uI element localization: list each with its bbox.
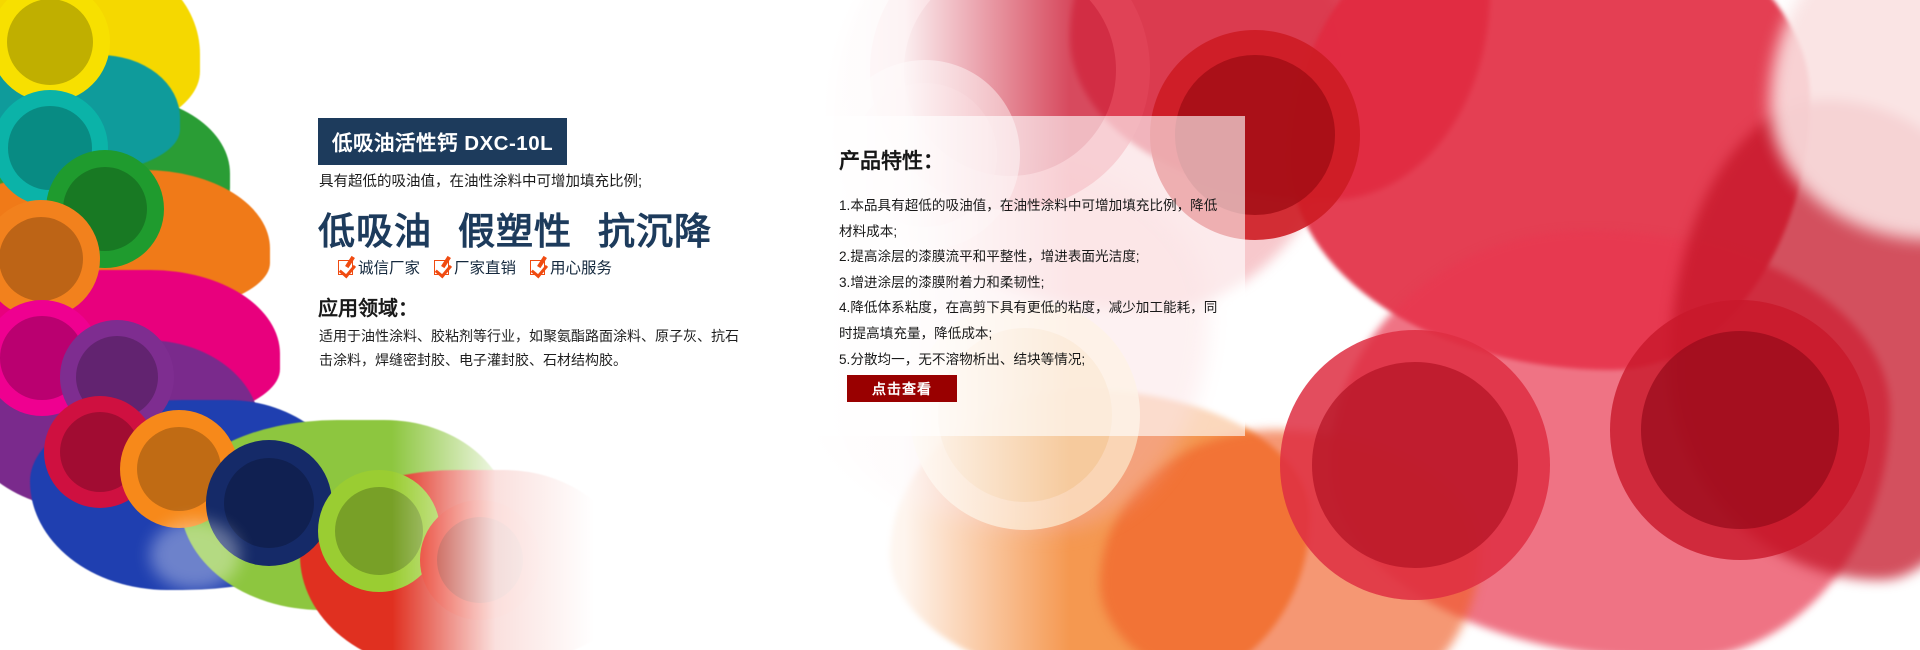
trust-badge-1: 诚信厂家 bbox=[338, 256, 420, 278]
features-list: 1.本品具有超低的吸油值，在油性涂料中可增加填充比例，降低材料成本; 2.提高涂… bbox=[839, 193, 1229, 372]
features-panel-title: 产品特性： bbox=[839, 145, 944, 175]
checkbox-checked-icon bbox=[434, 260, 449, 275]
product-banner: 低吸油活性钙 DXC-10L 具有超低的吸油值，在油性涂料中可增加填充比例; 低… bbox=[0, 0, 1920, 650]
checkbox-checked-icon bbox=[530, 260, 545, 275]
paint-dish-crimson-lower-inner bbox=[1312, 362, 1517, 567]
paint-dish-deep-right-inner bbox=[1641, 331, 1839, 529]
headline-part-2: 假塑性 bbox=[458, 209, 572, 253]
trust-badge-2-label: 厂家直销 bbox=[454, 256, 516, 278]
feature-item: 3.增进涂层的漆膜附着力和柔韧性; bbox=[839, 270, 1229, 296]
trust-badge-3: 用心服务 bbox=[530, 256, 612, 278]
paint-dish-deep-right bbox=[1610, 300, 1870, 560]
left-content: 低吸油活性钙 DXC-10L 具有超低的吸油值，在油性涂料中可增加填充比例; 低… bbox=[318, 0, 788, 650]
headline-part-3: 抗沉降 bbox=[598, 209, 712, 253]
application-description: 适用于油性涂料、胶粘剂等行业，如聚氨酯路面涂料、原子灰、抗石击涂料，焊缝密封胶、… bbox=[319, 324, 739, 372]
paint-blob-white-highlight bbox=[150, 520, 240, 590]
headline: 低吸油假塑性抗沉降 bbox=[318, 201, 712, 255]
feature-item: 4.降低体系粘度，在高剪下具有更低的粘度，减少加工能耗，同时提高填充量，降低成本… bbox=[839, 295, 1229, 346]
trust-badge-3-label: 用心服务 bbox=[550, 256, 612, 278]
product-subtitle: 具有超低的吸油值，在油性涂料中可增加填充比例; bbox=[319, 170, 642, 191]
product-features-panel: 产品特性： 1.本品具有超低的吸油值，在油性涂料中可增加填充比例，降低材料成本;… bbox=[803, 116, 1245, 436]
trust-badges: 诚信厂家 厂家直销 用心服务 bbox=[338, 256, 612, 278]
feature-item: 5.分散均一，无不溶物析出、结块等情况; bbox=[839, 347, 1229, 373]
paint-dish-crimson-lower bbox=[1280, 330, 1550, 600]
trust-badge-1-label: 诚信厂家 bbox=[358, 256, 420, 278]
application-section-heading: 应用领域： bbox=[318, 292, 418, 321]
feature-item: 2.提高涂层的漆膜流平和平整性，增进表面光洁度; bbox=[839, 244, 1229, 270]
product-title-badge: 低吸油活性钙 DXC-10L bbox=[318, 118, 567, 165]
view-details-button[interactable]: 点击查看 bbox=[847, 375, 957, 402]
trust-badge-2: 厂家直销 bbox=[434, 256, 516, 278]
feature-item: 1.本品具有超低的吸油值，在油性涂料中可增加填充比例，降低材料成本; bbox=[839, 193, 1229, 244]
headline-part-1: 低吸油 bbox=[318, 209, 432, 253]
checkbox-checked-icon bbox=[338, 260, 353, 275]
